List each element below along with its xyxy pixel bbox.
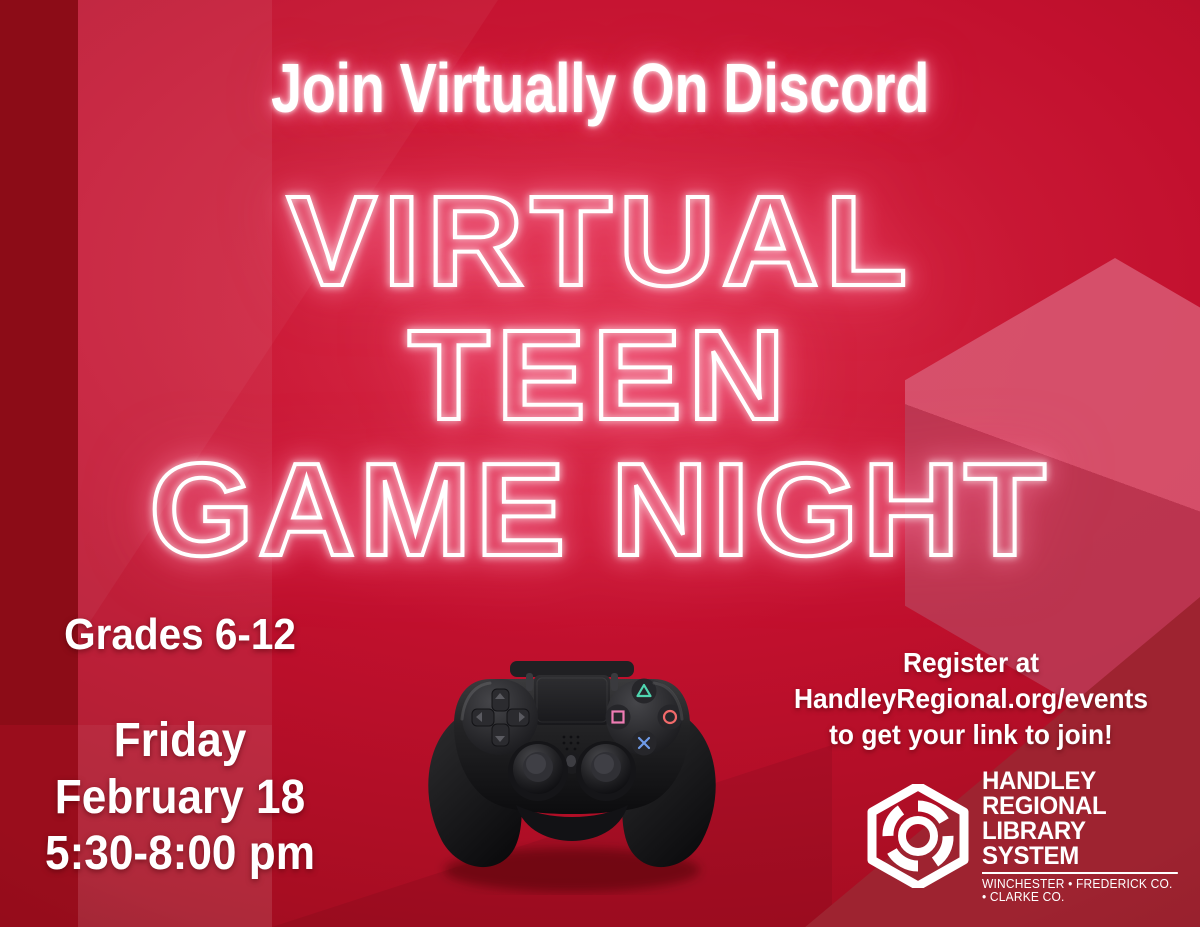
event-details: Grades 6-12 Friday February 18 5:30-8:00…: [0, 612, 360, 885]
title-text-virtual: VIRTUAL: [287, 168, 913, 315]
playstation-controller-image: [398, 645, 746, 895]
logo-line-1: HANDLEY REGIONAL: [982, 769, 1178, 819]
register-line-3: to get your link to join!: [769, 717, 1173, 753]
logo-wordmark: HANDLEY REGIONAL LIBRARY SYSTEM WINCHEST…: [982, 769, 1186, 903]
title-line-virtual: VIRTUAL: [0, 168, 1200, 315]
grades-label: Grades 6-12: [14, 612, 345, 658]
library-logo: HANDLEY REGIONAL LIBRARY SYSTEM WINCHEST…: [866, 782, 1186, 890]
title-text-teen: TEEN: [408, 302, 792, 449]
logo-tagline: WINCHESTER • FREDERICK CO. • CLARKE CO.: [982, 878, 1178, 903]
title-line-game-night: GAME NIGHT: [0, 434, 1200, 585]
title-text-game-night: GAME NIGHT: [150, 434, 1051, 585]
event-date: February 18: [14, 773, 345, 823]
title-line-teen: TEEN: [0, 302, 1200, 449]
headline: Join Virtually On Discord: [120, 48, 1080, 128]
register-line-1: Register at: [769, 645, 1173, 681]
event-time: 5:30-8:00 pm: [14, 829, 345, 879]
logo-line-2: LIBRARY SYSTEM: [982, 819, 1178, 874]
hexagon-logo-icon: [866, 784, 970, 888]
event-day: Friday: [14, 716, 345, 766]
registration-info: Register at HandleyRegional.org/events t…: [769, 645, 1173, 752]
register-url[interactable]: HandleyRegional.org/events: [769, 681, 1173, 717]
event-poster: Join Virtually On Discord VIRTUAL TEEN G…: [0, 0, 1200, 927]
